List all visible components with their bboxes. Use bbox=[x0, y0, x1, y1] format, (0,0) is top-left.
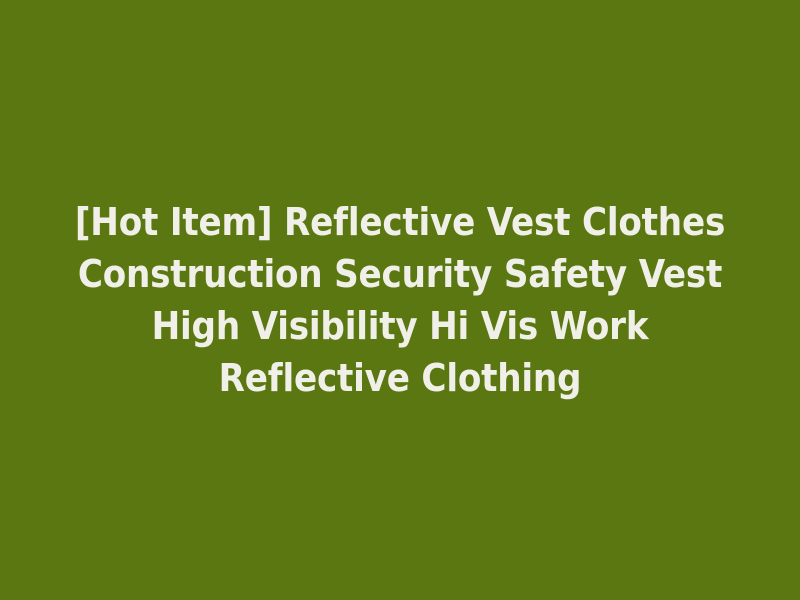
product-title: [Hot Item] Reflective Vest Clothes Const… bbox=[65, 196, 735, 404]
image-placeholder-card: [Hot Item] Reflective Vest Clothes Const… bbox=[0, 0, 800, 600]
title-block: [Hot Item] Reflective Vest Clothes Const… bbox=[55, 196, 745, 404]
